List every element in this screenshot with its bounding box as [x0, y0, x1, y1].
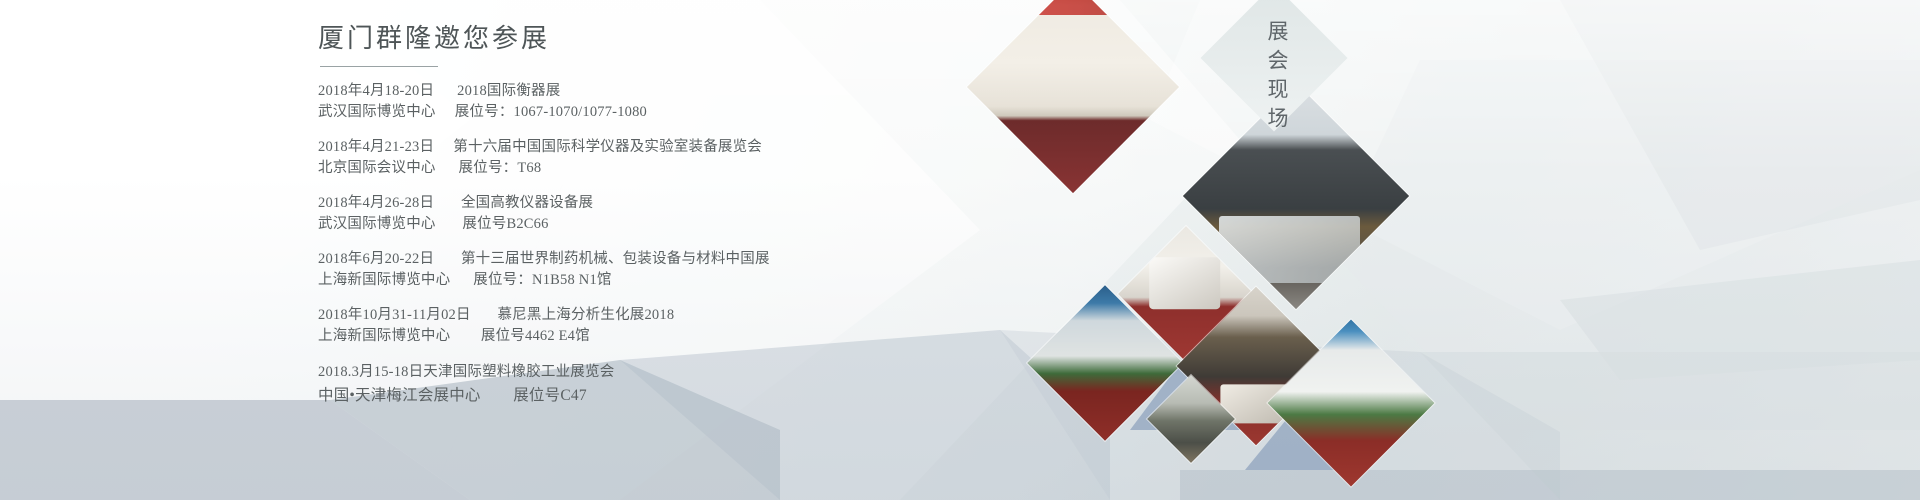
- exhibition-line-venue-booth: 北京国际会议中心 展位号：T68: [318, 158, 1078, 179]
- exhibition-line-date-name: 2018.3月15-18日天津国际塑料橡胶工业展览会: [318, 361, 1078, 384]
- exhibition-line-date-name: 2018年4月26-28日 全国高教仪器设备展: [318, 193, 1078, 214]
- exhibition-info-panel: 厦门群隆邀您参展 2018年4月18-20日 2018国际衡器展 武汉国际博览中…: [318, 18, 1078, 488]
- exhibition-line-venue-booth: 中国•天津梅江会展中心 展位号C47: [318, 384, 1078, 407]
- exhibition-line-venue-booth: 武汉国际博览中心 展位号：1067-1070/1077-1080: [318, 102, 1078, 123]
- title-divider: [320, 66, 438, 67]
- exhibition-line-venue-booth: 武汉国际博览中心 展位号B2C66: [318, 214, 1078, 235]
- collage-vertical-caption: 展会现场: [1262, 20, 1292, 136]
- exhibition-line-date-name: 2018年6月20-22日 第十三届世界制药机械、包装设备与材料中国展: [318, 249, 1078, 270]
- exhibition-entry[interactable]: 2018年10月31-11月02日 慕尼黑上海分析生化展2018 上海新国际博览…: [318, 305, 1078, 347]
- exhibition-line-date-name: 2018年10月31-11月02日 慕尼黑上海分析生化展2018: [318, 305, 1078, 326]
- page-title: 厦门群隆邀您参展: [318, 18, 1078, 63]
- exhibition-entry[interactable]: 2018年4月26-28日 全国高教仪器设备展 武汉国际博览中心 展位号B2C6…: [318, 193, 1078, 235]
- exhibition-line-venue-booth: 上海新国际博览中心 展位号4462 E4馆: [318, 326, 1078, 347]
- exhibition-line-date-name: 2018年4月21-23日 第十六届中国国际科学仪器及实验室装备展览会: [318, 137, 1078, 158]
- exhibition-line-date-name: 2018年4月18-20日 2018国际衡器展: [318, 81, 1078, 102]
- exhibition-entry[interactable]: 2018年6月20-22日 第十三届世界制药机械、包装设备与材料中国展 上海新国…: [318, 249, 1078, 291]
- exhibition-entry[interactable]: 2018年4月21-23日 第十六届中国国际科学仪器及实验室装备展览会 北京国际…: [318, 137, 1078, 179]
- exhibition-entry[interactable]: 2018年4月18-20日 2018国际衡器展 武汉国际博览中心 展位号：106…: [318, 81, 1078, 123]
- exhibition-line-venue-booth: 上海新国际博览中心 展位号：N1B58 N1馆: [318, 270, 1078, 291]
- exhibition-entry[interactable]: 2018.3月15-18日天津国际塑料橡胶工业展览会 中国•天津梅江会展中心 展…: [318, 361, 1078, 407]
